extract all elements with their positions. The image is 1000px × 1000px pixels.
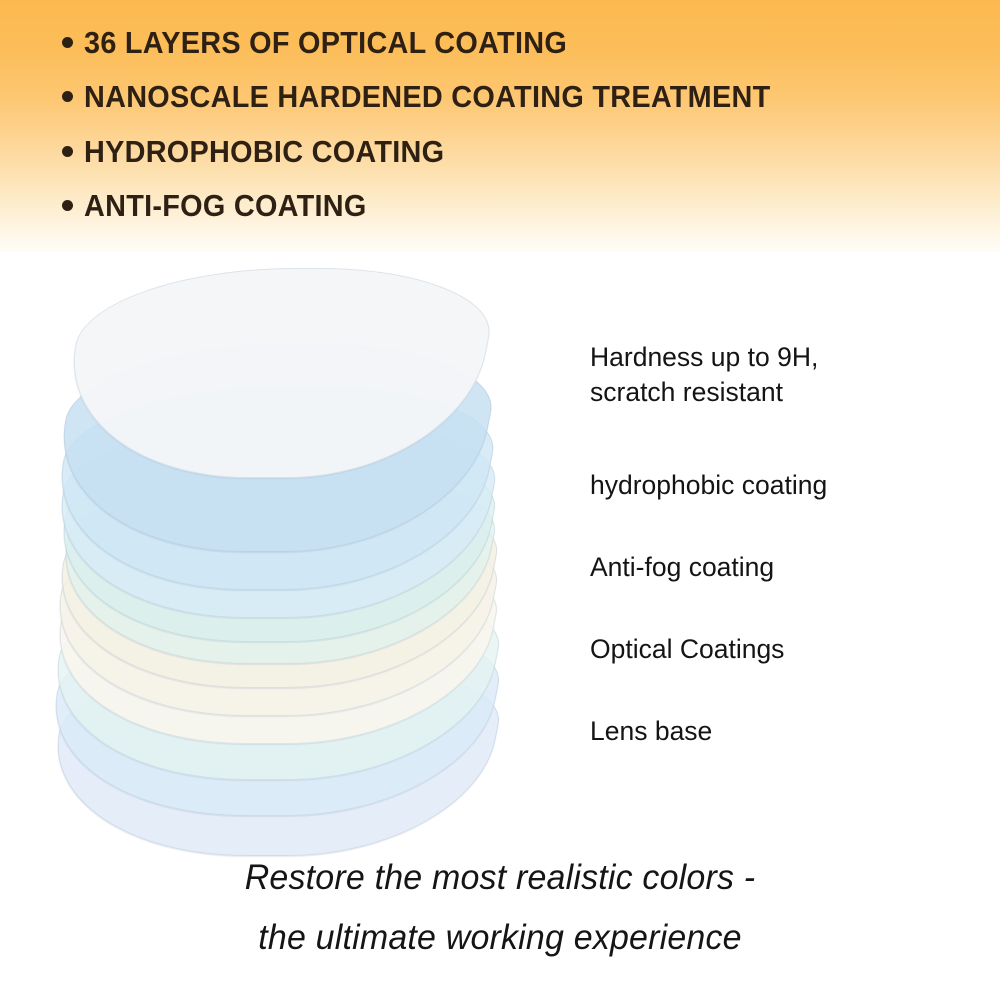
- bullet-dot-icon: [62, 37, 73, 48]
- bullet-dot-icon: [62, 200, 73, 211]
- callout-label-lens-base: Lens base: [590, 714, 712, 749]
- callout-label-antifog: Anti-fog coating: [590, 550, 774, 585]
- feature-banner: 36 LAYERS OF OPTICAL COATING NANOSCALE H…: [0, 0, 1000, 252]
- feature-label: 36 LAYERS OF OPTICAL COATING: [84, 27, 567, 58]
- callout-label-hardness: Hardness up to 9H, scratch resistant: [590, 340, 818, 410]
- feature-label: HYDROPHOBIC COATING: [84, 136, 444, 167]
- lens-layer-stack-illustration: [52, 268, 532, 798]
- callout-label-hydrophobic: hydrophobic coating: [590, 468, 827, 503]
- tagline-line-2: the ultimate working experience: [15, 908, 985, 968]
- tagline-line-1: Restore the most realistic colors -: [15, 848, 985, 908]
- bullet-dot-icon: [62, 91, 73, 102]
- product-infographic-page: 36 LAYERS OF OPTICAL COATING NANOSCALE H…: [0, 0, 1000, 1000]
- tagline: Restore the most realistic colors - the …: [0, 848, 1000, 968]
- callout-label-optical: Optical Coatings: [590, 632, 784, 667]
- feature-bullet-item: 36 LAYERS OF OPTICAL COATING: [62, 27, 603, 58]
- feature-bullet-item: ANTI-FOG COATING: [62, 190, 388, 221]
- feature-label: NANOSCALE HARDENED COATING TREATMENT: [84, 81, 770, 112]
- feature-bullet-item: HYDROPHOBIC COATING: [62, 136, 471, 167]
- bullet-dot-icon: [62, 146, 73, 157]
- feature-bullet-item: NANOSCALE HARDENED COATING TREATMENT: [62, 81, 822, 112]
- feature-label: ANTI-FOG COATING: [84, 190, 367, 221]
